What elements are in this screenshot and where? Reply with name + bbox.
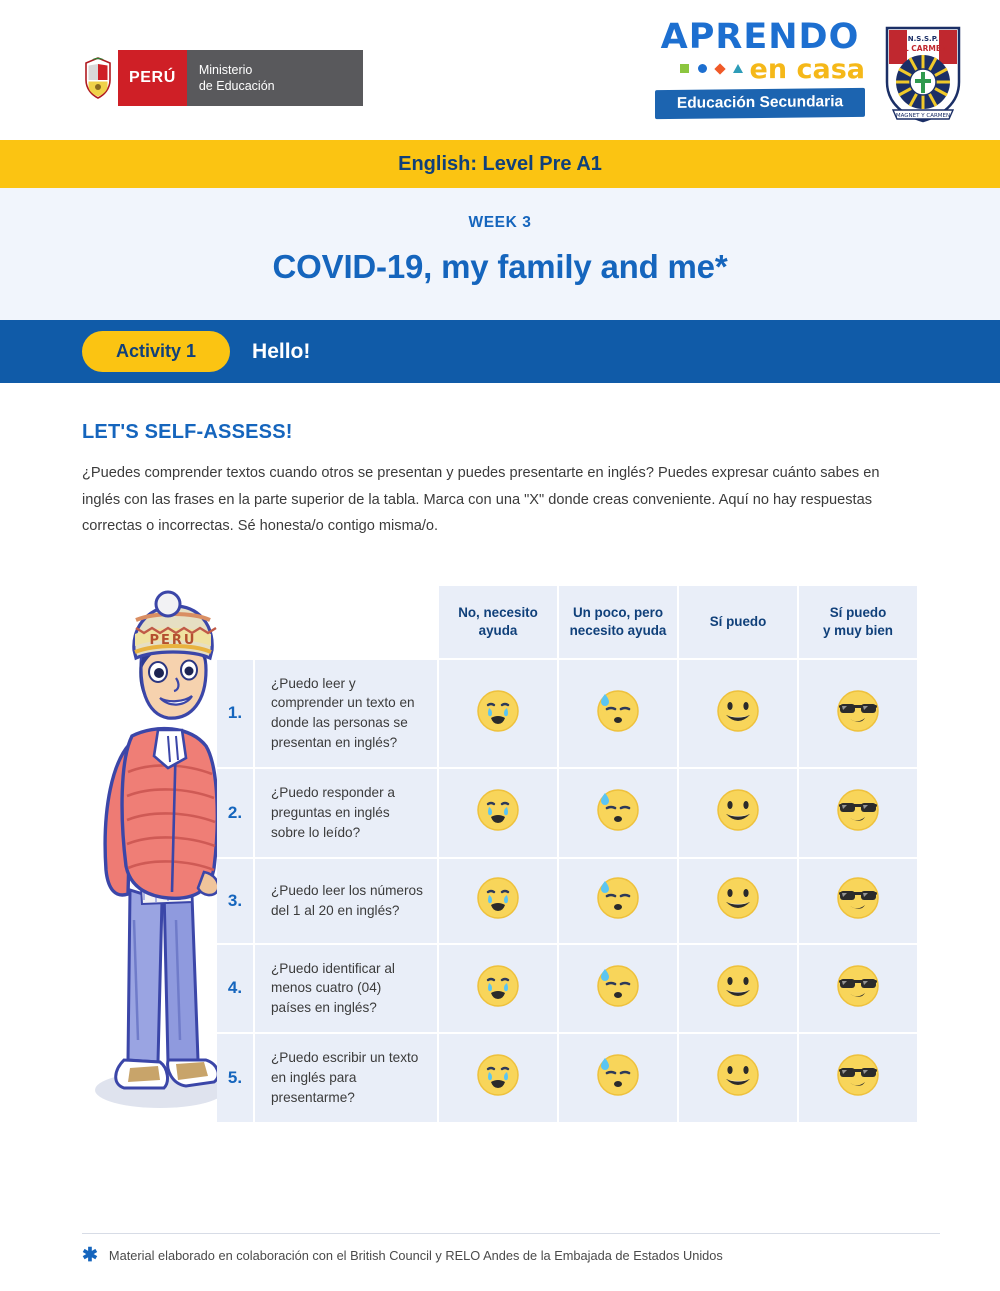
svg-text:N.S.S.P.: N.S.S.P. (908, 35, 938, 43)
en-casa-wordmark: en casa (750, 56, 865, 83)
sweating-face-icon (596, 788, 640, 837)
minedu-country-label: PERÚ (118, 50, 187, 106)
answer-cell-row-2-option-1[interactable] (439, 769, 557, 857)
answer-cell-row-3-option-1[interactable] (439, 859, 557, 943)
option-1-line-1: No, necesito (445, 604, 551, 621)
self-assessment-table: No, necesito ayuda Un poco, pero necesit… (215, 584, 919, 1124)
answer-cell-row-3-option-3[interactable] (679, 859, 797, 943)
sunglasses-face-icon (836, 1053, 880, 1102)
answer-cell-row-2-option-3[interactable] (679, 769, 797, 857)
option-4-line-2: y muy bien (805, 622, 911, 639)
school-crest-icon: N.S.S.P. EL CARMEN MAGNET Y CARMEN (881, 24, 965, 124)
main-content: LET'S SELF-ASSESS! ¿Puedes comprender te… (0, 383, 1000, 1114)
decorative-shapes-icon (680, 64, 743, 75)
answer-cell-row-1-option-2[interactable] (559, 660, 677, 767)
activity-number-badge: Activity 1 (82, 331, 230, 372)
table-row: 4.¿Puedo identificar al menos cuatro (04… (217, 945, 917, 1033)
svg-text:PERU: PERU (150, 633, 197, 648)
grinning-face-icon (716, 788, 760, 837)
row-number: 4. (217, 945, 253, 1033)
grinning-face-icon (716, 1053, 760, 1102)
column-header-option-4: Sí puedo y muy bien (799, 586, 917, 658)
sunglasses-face-icon (836, 788, 880, 837)
sweating-face-icon (596, 876, 640, 925)
square-shape-icon (680, 64, 689, 73)
row-number: 5. (217, 1034, 253, 1122)
svg-text:EL CARMEN: EL CARMEN (899, 44, 947, 53)
table-row: 3.¿Puedo leer los números del 1 al 20 en… (217, 859, 917, 943)
footer-note: Material elaborado en colaboración con e… (109, 1248, 723, 1263)
grinning-face-icon (716, 689, 760, 738)
column-header-option-2: Un poco, pero necesito ayuda (559, 586, 677, 658)
answer-cell-row-2-option-2[interactable] (559, 769, 677, 857)
answer-cell-row-4-option-2[interactable] (559, 945, 677, 1033)
column-header-option-3: Sí puedo (679, 586, 797, 658)
page-footer: ✱ Material elaborado en colaboración con… (82, 1233, 940, 1265)
title-block: WEEK 3 COVID-19, my family and me* (0, 188, 1000, 320)
answer-cell-row-3-option-4[interactable] (799, 859, 917, 943)
row-question: ¿Puedo leer los números del 1 al 20 en i… (255, 859, 437, 943)
answer-cell-row-5-option-4[interactable] (799, 1034, 917, 1122)
activity-title: Hello! (252, 340, 310, 364)
svg-text:MAGNET Y CARMEN: MAGNET Y CARMEN (896, 113, 950, 119)
table-header: No, necesito ayuda Un poco, pero necesit… (217, 586, 917, 658)
footer-note-row: ✱ Material elaborado en colaboración con… (82, 1246, 940, 1265)
sunglasses-face-icon (836, 964, 880, 1013)
crying-face-icon (476, 964, 520, 1013)
aprendo-en-casa-logo: APRENDO en casa Educación Secundaria (655, 20, 865, 118)
answer-cell-row-4-option-4[interactable] (799, 945, 917, 1033)
header-spacer-number (217, 586, 253, 658)
sweating-face-icon (596, 689, 640, 738)
ministry-line-1: Ministerio (199, 62, 349, 79)
option-2-line-1: Un poco, pero (565, 604, 671, 621)
option-4-line-1: Sí puedo (805, 604, 911, 621)
subject-band: English: Level Pre A1 (0, 140, 1000, 188)
answer-cell-row-5-option-2[interactable] (559, 1034, 677, 1122)
table-row: 2.¿Puedo responder a preguntas en inglés… (217, 769, 917, 857)
table-row: 1.¿Puedo leer y comprender un texto en d… (217, 660, 917, 767)
row-number: 1. (217, 660, 253, 767)
aprendo-subrow: en casa (655, 56, 865, 83)
table-body: 1.¿Puedo leer y comprender un texto en d… (217, 660, 917, 1122)
table-row: 5.¿Puedo escribir un texto en inglés par… (217, 1034, 917, 1122)
footer-divider (82, 1233, 940, 1234)
peru-coat-of-arms-icon (78, 50, 118, 106)
grinning-face-icon (716, 964, 760, 1013)
grinning-face-icon (716, 876, 760, 925)
section-heading: LET'S SELF-ASSESS! (82, 421, 918, 444)
sunglasses-face-icon (836, 876, 880, 925)
crying-face-icon (476, 689, 520, 738)
answer-cell-row-4-option-1[interactable] (439, 945, 557, 1033)
answer-cell-row-1-option-4[interactable] (799, 660, 917, 767)
week-label: WEEK 3 (0, 214, 1000, 232)
header-spacer-question (255, 586, 437, 658)
option-1-line-2: ayuda (445, 622, 551, 639)
sweating-face-icon (596, 1053, 640, 1102)
answer-cell-row-1-option-1[interactable] (439, 660, 557, 767)
subject-label: English: Level Pre A1 (398, 153, 602, 176)
activity-bar: Activity 1 Hello! (0, 320, 1000, 383)
row-question: ¿Puedo responder a preguntas en inglés s… (255, 769, 437, 857)
minedu-ministry-label: Ministerio de Educación (187, 50, 363, 106)
answer-cell-row-2-option-4[interactable] (799, 769, 917, 857)
option-3-line-1: Sí puedo (685, 613, 791, 630)
row-number: 3. (217, 859, 253, 943)
sweating-face-icon (596, 964, 640, 1013)
column-header-option-1: No, necesito ayuda (439, 586, 557, 658)
page-header: PERÚ Ministerio de Educación APRENDO en … (0, 0, 1000, 140)
answer-cell-row-5-option-3[interactable] (679, 1034, 797, 1122)
option-2-line-2: necesito ayuda (565, 622, 671, 639)
instruction-paragraph: ¿Puedes comprender textos cuando otros s… (82, 460, 918, 540)
ministry-line-2: de Educación (199, 78, 349, 95)
self-assessment-area: PERU No, necesito ayuda (82, 584, 918, 1114)
sunglasses-face-icon (836, 689, 880, 738)
crying-face-icon (476, 876, 520, 925)
row-question: ¿Puedo escribir un texto en inglés para … (255, 1034, 437, 1122)
aprendo-level-banner: Educación Secundaria (655, 88, 865, 119)
row-question: ¿Puedo leer y comprender un texto en don… (255, 660, 437, 767)
answer-cell-row-5-option-1[interactable] (439, 1034, 557, 1122)
crying-face-icon (476, 788, 520, 837)
row-number: 2. (217, 769, 253, 857)
table-header-row: No, necesito ayuda Un poco, pero necesit… (217, 586, 917, 658)
answer-cell-row-1-option-3[interactable] (679, 660, 797, 767)
answer-cell-row-4-option-3[interactable] (679, 945, 797, 1033)
answer-cell-row-3-option-2[interactable] (559, 859, 677, 943)
crying-face-icon (476, 1053, 520, 1102)
diamond-shape-icon (714, 63, 725, 74)
page-title: COVID-19, my family and me* (0, 248, 1000, 286)
row-question: ¿Puedo identificar al menos cuatro (04) … (255, 945, 437, 1033)
triangle-shape-icon (733, 64, 743, 73)
circle-shape-icon (698, 64, 707, 73)
aprendo-wordmark: APRENDO (655, 20, 865, 55)
minedu-logo: PERÚ Ministerio de Educación (78, 50, 363, 106)
asterisk-icon: ✱ (82, 1246, 98, 1265)
